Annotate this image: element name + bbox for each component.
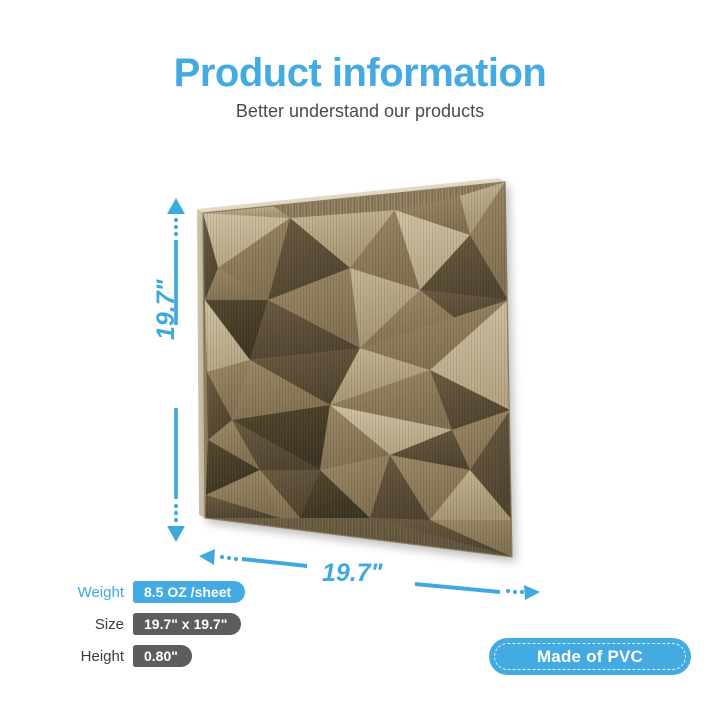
spec-value-height: 0.80" (133, 645, 192, 667)
product-information-graphic: Product information Better understand ou… (0, 0, 720, 720)
spec-row-size: Size 19.7" x 19.7" (62, 613, 245, 635)
spec-value-weight: 8.5 OZ /sheet (133, 581, 245, 603)
vertical-dimension-arrow (167, 198, 185, 542)
badge-label: Made of PVC (537, 647, 643, 667)
page-subtitle: Better understand our products (0, 102, 720, 122)
page-title: Product information (0, 52, 720, 94)
header: Product information Better understand ou… (0, 52, 720, 122)
spec-value-size: 19.7" x 19.7" (133, 613, 241, 635)
spec-row-height: Height 0.80" (62, 645, 245, 667)
spec-row-weight: Weight 8.5 OZ /sheet (62, 581, 245, 603)
spec-label-size: Size (62, 617, 133, 632)
spec-label-weight: Weight (62, 585, 133, 600)
spec-label-height: Height (62, 649, 133, 664)
made-of-pvc-badge: Made of PVC (489, 638, 691, 675)
panel-thickness-edge (197, 178, 505, 518)
vertical-dimension-label: 19.7" (152, 279, 181, 340)
spec-list: Weight 8.5 OZ /sheet Size 19.7" x 19.7" … (62, 581, 245, 677)
horizontal-dimension-label: 19.7" (322, 559, 383, 588)
panel-face (195, 175, 525, 565)
